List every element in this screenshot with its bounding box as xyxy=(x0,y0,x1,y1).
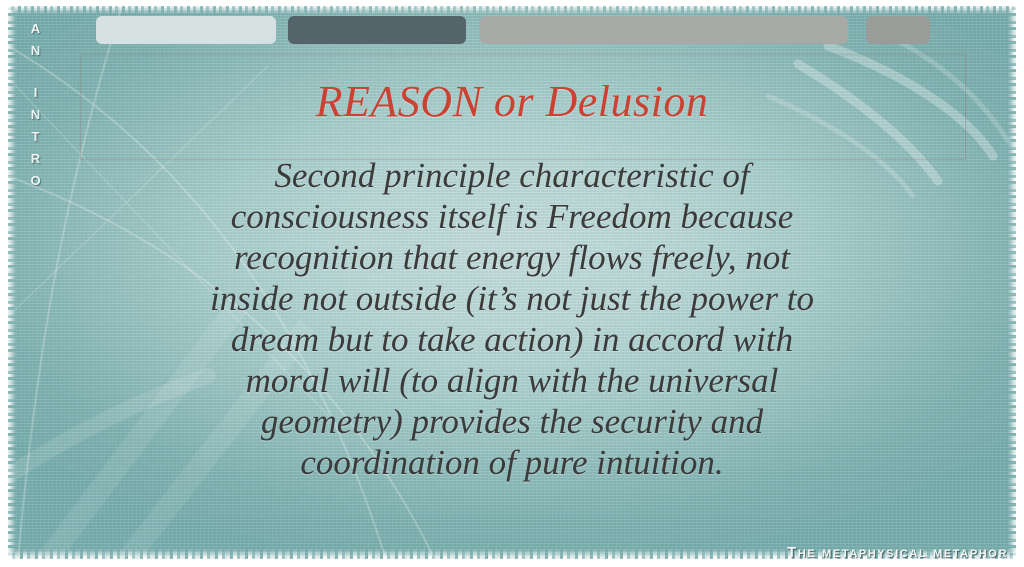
body-line: inside not outside (it’s not just the po… xyxy=(150,278,874,319)
progress-segment-2[interactable] xyxy=(288,16,466,44)
slide-canvas: A N I N T R O REASON or Delusion Second … xyxy=(0,0,1024,567)
side-label-char: N xyxy=(31,40,41,62)
side-label-char: A xyxy=(31,18,41,40)
progress-bar xyxy=(0,16,1024,44)
side-label-char: O xyxy=(30,170,41,192)
body-line: geometry) provides the security and xyxy=(150,401,874,442)
side-label-char: R xyxy=(31,148,41,170)
side-label-char: T xyxy=(32,126,41,148)
body-line: Second principle characteristic of xyxy=(150,155,874,196)
body-line: dream but to take action) in accord with xyxy=(150,319,874,360)
body-line: moral will (to align with the universal xyxy=(150,360,874,401)
progress-segment-1[interactable] xyxy=(96,16,276,44)
body-line: recognition that energy flows freely, no… xyxy=(150,237,874,278)
body-line: coordination of pure intuition. xyxy=(150,442,874,483)
slide-title: REASON or Delusion xyxy=(0,76,1024,127)
torn-edge-top xyxy=(8,6,1016,14)
slide-footer: The metaphysical metaphor xyxy=(787,544,1008,561)
body-line: consciousness itself is Freedom because xyxy=(150,196,874,237)
progress-segment-3[interactable] xyxy=(480,16,848,44)
progress-segment-4[interactable] xyxy=(866,16,930,44)
slide-body-text: Second principle characteristic of consc… xyxy=(150,155,874,483)
